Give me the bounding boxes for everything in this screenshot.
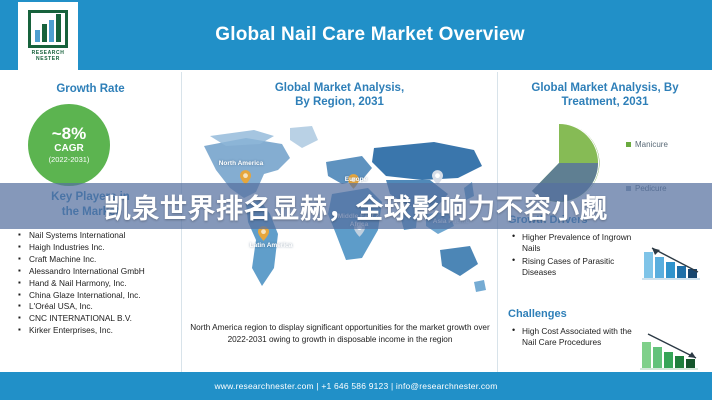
- key-players-list: Nail Systems International Haigh Industr…: [16, 230, 176, 337]
- list-item: CNC INTERNATIONAL B.V.: [16, 313, 176, 324]
- infographic-page: RESEARCH NESTER Global Nail Care Market …: [0, 0, 712, 400]
- list-item: Rising Cases of Parasitic Diseases: [510, 256, 642, 279]
- list-item: China Glaze International, Inc.: [16, 290, 176, 301]
- list-item: Kirker Enterprises, Inc.: [16, 325, 176, 336]
- list-item: Craft Machine Inc.: [16, 254, 176, 265]
- map-caption: North America region to display signific…: [188, 322, 492, 345]
- region-analysis-title: Global Market Analysis, By Region, 2031: [182, 81, 497, 109]
- legend-label-manicure: Manicure: [635, 140, 668, 149]
- header-bar: RESEARCH NESTER Global Nail Care Market …: [0, 0, 712, 70]
- list-item: High Cost Associated with the Nail Care …: [510, 326, 646, 349]
- logo-line-2: NESTER: [32, 56, 65, 62]
- challenges-list: High Cost Associated with the Nail Care …: [510, 326, 646, 350]
- region-analysis-title-line-1: Global Market Analysis,: [182, 81, 497, 95]
- list-item: Haigh Industries Inc.: [16, 242, 176, 253]
- challenges-title: Challenges: [508, 308, 567, 320]
- overlay-banner: 凯泉世界排名显赫，全球影响力不容小觑: [0, 183, 712, 229]
- treatment-analysis-title: Global Market Analysis, By Treatment, 20…: [498, 81, 712, 109]
- treatment-analysis-title-line-2: Treatment, 2031: [512, 95, 698, 109]
- company-logo: RESEARCH NESTER: [18, 2, 78, 70]
- list-item: Hand & Nail Harmony, Inc.: [16, 278, 176, 289]
- cagr-value: ~8%: [52, 125, 87, 143]
- bar-chart-icon: [28, 10, 68, 48]
- growth-rate-title: Growth Rate: [0, 82, 181, 96]
- cagr-period: (2022-2031): [49, 155, 90, 165]
- legend-item-manicure: Manicure: [626, 140, 668, 149]
- map-label-latin-america: Latin America: [248, 242, 294, 250]
- cagr-label: CAGR: [54, 143, 83, 155]
- footer-bar: www.researchnester.com | +1 646 586 9123…: [0, 372, 712, 400]
- cagr-badge: ~8% CAGR (2022-2031): [28, 104, 110, 186]
- list-item: Nail Systems International: [16, 230, 176, 241]
- region-analysis-title-line-2: By Region, 2031: [182, 95, 497, 109]
- map-label-north-america: North America: [214, 160, 268, 168]
- list-item: Alessandro International GmbH: [16, 266, 176, 277]
- overlay-headline: 凯泉世界排名显赫，全球影响力不容小觑: [104, 187, 608, 226]
- decreasing-trend-icon: [638, 328, 704, 374]
- page-title: Global Nail Care Market Overview: [160, 0, 580, 70]
- legend-swatch-manicure: [626, 142, 631, 147]
- footer-contact-text: www.researchnester.com | +1 646 586 9123…: [214, 381, 497, 391]
- list-item: L'Oréal USA, Inc.: [16, 301, 176, 312]
- list-item: Higher Prevalence of Ingrown Nails: [510, 232, 642, 255]
- growth-drivers-list: Higher Prevalence of Ingrown Nails Risin…: [510, 232, 642, 280]
- increasing-trend-icon: [640, 238, 706, 284]
- treatment-analysis-title-line-1: Global Market Analysis, By: [512, 81, 698, 95]
